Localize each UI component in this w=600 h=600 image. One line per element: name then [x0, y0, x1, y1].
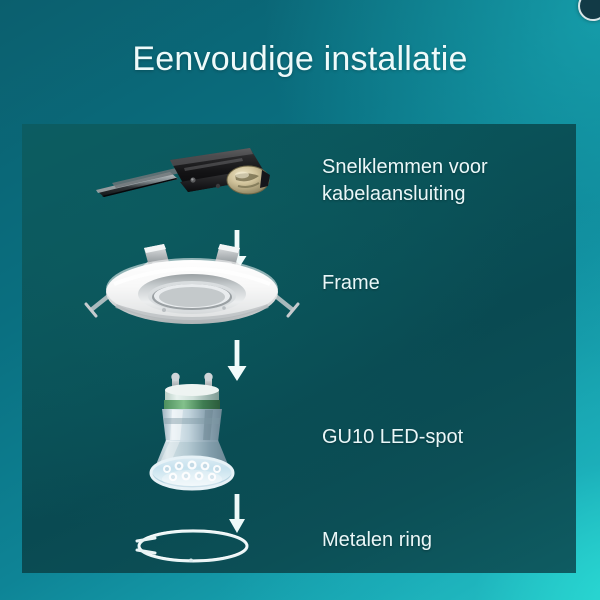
step-row-1: Snelklemmen voor kabelaansluiting	[22, 138, 576, 224]
step-row-4: Metalen ring	[22, 522, 576, 572]
page-title: Eenvoudige installatie	[0, 40, 600, 79]
terminal-block-connector-icon	[92, 142, 292, 214]
step-2-figure	[22, 234, 362, 334]
step-3-figure	[22, 372, 362, 502]
corner-badge-icon	[578, 0, 600, 21]
metal-spring-ring-icon	[127, 522, 257, 568]
step-row-2: Frame	[22, 234, 576, 334]
step-3-label: GU10 LED-spot	[322, 424, 463, 451]
installation-diagram-slide: Eenvoudige installatie	[0, 0, 600, 600]
step-1-label: Snelklemmen voor kabelaansluiting	[322, 154, 488, 208]
step-row-3: GU10 LED-spot	[22, 372, 576, 502]
step-2-label: Frame	[322, 270, 380, 297]
gu10-led-lamp-icon	[117, 372, 267, 502]
recessed-downlight-frame-icon	[72, 234, 312, 330]
diagram-panel: Snelklemmen voor kabelaansluiting	[22, 124, 576, 573]
step-1-figure	[22, 138, 362, 224]
step-4-label: Metalen ring	[322, 527, 432, 554]
step-4-figure	[22, 522, 362, 572]
